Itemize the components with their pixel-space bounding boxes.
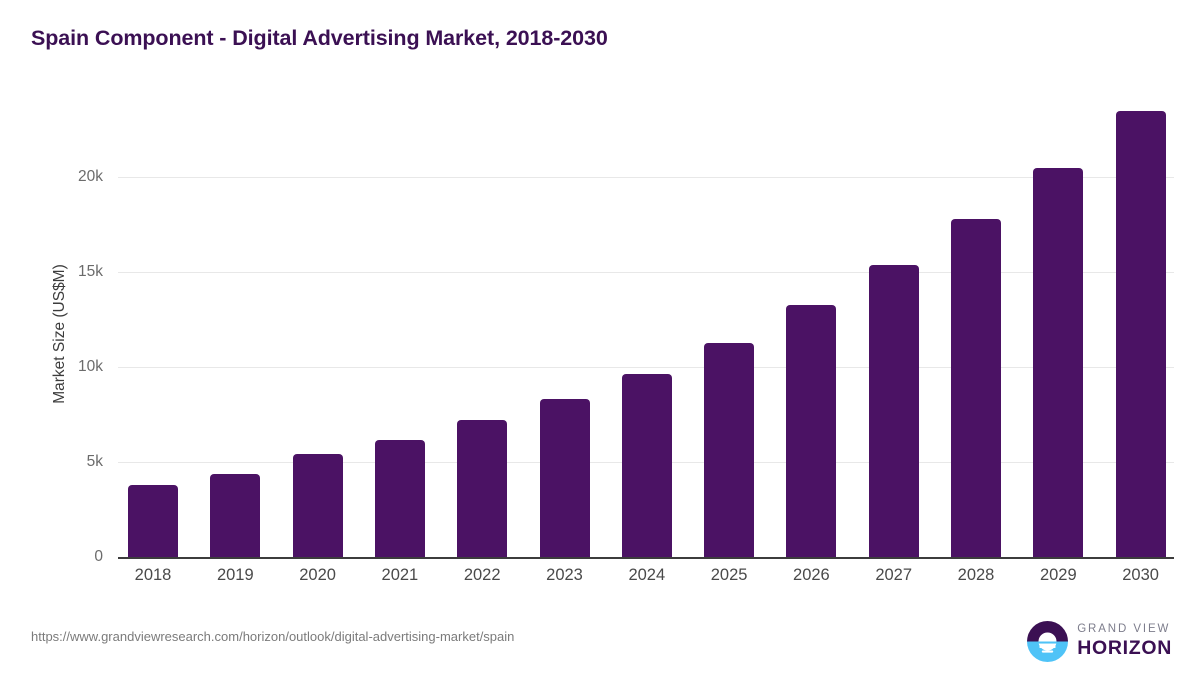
plot-area: Market Size (US$M) [118, 110, 1174, 558]
x-axis-tick-label: 2025 [688, 566, 770, 585]
y-axis-tick-label: 15k [43, 263, 103, 281]
bar[interactable] [540, 399, 590, 557]
x-axis-tick-label: 2028 [935, 566, 1017, 585]
chart-page: Spain Component - Digital Advertising Ma… [0, 0, 1200, 675]
gridline [118, 367, 1174, 368]
x-axis-tick-label: 2021 [359, 566, 441, 585]
y-axis-tick-label: 0 [43, 548, 103, 566]
bar[interactable] [951, 219, 1001, 557]
y-axis-tick-label: 5k [43, 453, 103, 471]
brand-logo: GRAND VIEW HORIZON [1027, 620, 1172, 662]
x-axis-tick-label: 2027 [853, 566, 935, 585]
x-axis-tick-label: 2018 [112, 566, 194, 585]
x-axis-tick-label: 2026 [770, 566, 852, 585]
logo-text-top: GRAND VIEW [1077, 624, 1172, 636]
source-url: https://www.grandviewresearch.com/horizo… [31, 629, 514, 644]
y-axis-title: Market Size (US$M) [51, 264, 69, 404]
bar[interactable] [457, 420, 507, 557]
grand-view-horizon-sun-logo-icon [1027, 621, 1068, 662]
y-axis-tick-label: 20k [43, 168, 103, 186]
logo-wordmark: GRAND VIEW HORIZON [1077, 624, 1172, 658]
y-axis-tick-label: 10k [43, 358, 103, 376]
bar[interactable] [704, 343, 754, 558]
x-axis-baseline [118, 557, 1174, 559]
x-axis-tick-label: 2020 [277, 566, 359, 585]
bar[interactable] [128, 485, 178, 557]
bar[interactable] [1033, 168, 1083, 557]
page-title: Spain Component - Digital Advertising Ma… [31, 26, 608, 51]
x-axis-tick-label: 2024 [606, 566, 688, 585]
bar[interactable] [622, 374, 672, 557]
x-axis-tick-label: 2022 [441, 566, 523, 585]
bar[interactable] [786, 305, 836, 557]
bar[interactable] [869, 265, 919, 557]
logo-text-bottom: HORIZON [1077, 639, 1172, 659]
bar[interactable] [293, 454, 343, 557]
bar[interactable] [210, 474, 260, 557]
x-axis-tick-label: 2019 [194, 566, 276, 585]
x-axis-tick-label: 2029 [1017, 566, 1099, 585]
bar[interactable] [375, 440, 425, 557]
gridline [118, 177, 1174, 178]
x-axis-tick-label: 2023 [524, 566, 606, 585]
bar[interactable] [1116, 111, 1166, 557]
gridline [118, 272, 1174, 273]
x-axis-tick-label: 2030 [1100, 566, 1182, 585]
